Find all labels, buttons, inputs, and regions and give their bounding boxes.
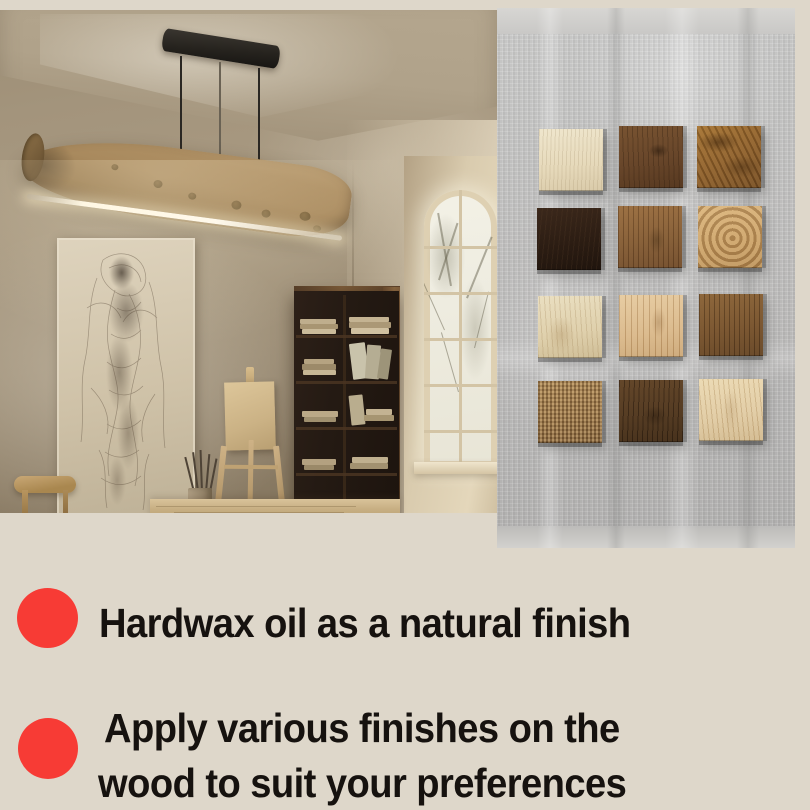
book: [350, 463, 388, 469]
window-mullion-horizontal: [424, 246, 497, 249]
wood-sample-edge: [619, 356, 683, 361]
wood-samples-photo: [497, 8, 795, 548]
window-mullion-vertical: [459, 190, 462, 467]
chair-leg: [22, 490, 28, 513]
wood-sample-edge: [763, 294, 767, 356]
room-scene: [0, 10, 497, 513]
wood-sample-face: [619, 126, 683, 188]
bookshelf-shelf: [296, 381, 397, 384]
wood-sample-edge: [761, 126, 765, 188]
bookshelf: [294, 291, 399, 513]
wood-sample-edge: [538, 442, 602, 447]
bullet-marker-2: [18, 718, 78, 779]
wood-sample-edge: [699, 355, 763, 360]
window-mullion-horizontal: [424, 384, 497, 387]
book: [364, 415, 394, 421]
book: [348, 394, 365, 425]
wood-sample: [619, 126, 683, 188]
caption-line-1: Hardwax oil as a natural finish: [99, 600, 631, 647]
wood-sample-face: [537, 208, 601, 270]
table-grain-line: [156, 506, 356, 507]
table-grain-line: [174, 512, 344, 513]
arched-window: [424, 190, 497, 467]
wood-sample-edge: [619, 187, 683, 192]
book: [351, 328, 389, 334]
wood-sample-edge: [763, 379, 767, 441]
wood-sample-face: [619, 295, 683, 357]
wood-sample-edge: [682, 206, 686, 268]
wood-sample-edge: [602, 296, 606, 358]
wood-sample: [538, 296, 602, 358]
wood-sample-edge: [618, 267, 682, 272]
work-table: [150, 499, 400, 513]
poster-canvas: Hardwax oil as a natural finish Apply va…: [0, 0, 810, 810]
wood-sample-face: [619, 380, 683, 442]
bookshelf-shelf: [296, 427, 397, 430]
book: [303, 370, 336, 375]
window-sill: [414, 462, 497, 474]
wood-sample-edge: [602, 381, 606, 443]
caption-line-3: wood to suit your preferences: [98, 760, 626, 807]
bookshelf-divider: [343, 295, 346, 513]
wood-sample: [699, 379, 763, 441]
wood-sample-edge: [697, 187, 761, 192]
wood-sample: [699, 294, 763, 356]
wood-sample-edge: [539, 190, 603, 195]
wood-sample-face: [699, 379, 763, 441]
wood-sample: [619, 380, 683, 442]
wood-sample-edge: [683, 295, 687, 357]
wood-sample: [618, 206, 682, 268]
charcoal-figure-artwork: [57, 238, 195, 513]
charcoal-scribble-icon: [57, 238, 195, 513]
fabric-fold: [665, 8, 699, 548]
chair-leg: [63, 490, 68, 513]
wood-sample-face: [539, 129, 603, 191]
wood-sample: [619, 295, 683, 357]
window-mullion-horizontal: [424, 338, 497, 341]
wood-sample-edge: [619, 441, 683, 446]
wood-sample: [538, 381, 602, 443]
book: [302, 329, 336, 334]
wood-sample-face: [697, 126, 761, 188]
fabric-fold-shadow: [737, 8, 759, 548]
lamp-cord: [258, 68, 260, 166]
bullet-marker-1: [17, 588, 78, 648]
easel-crossbar: [224, 465, 278, 469]
window-mullion-horizontal: [424, 292, 497, 295]
window-mullion-horizontal: [424, 430, 497, 433]
wood-sample-edge: [699, 440, 763, 445]
wood-sample: [539, 129, 603, 191]
wood-sample: [537, 208, 601, 270]
bookshelf-shelf: [296, 335, 397, 338]
wood-sample-edge: [683, 126, 687, 188]
lamp-cord: [219, 62, 221, 162]
wood-sample-face: [698, 206, 762, 268]
wood-sample-edge: [601, 208, 605, 270]
bookshelf-shelf: [296, 473, 397, 476]
interior-studio-photo: [0, 10, 497, 513]
wood-sample-edge: [698, 267, 762, 272]
wood-sample: [698, 206, 762, 268]
caption-line-2: Apply various finishes on the: [104, 705, 620, 752]
wood-sample-edge: [683, 380, 687, 442]
wood-sample-face: [618, 206, 682, 268]
wood-sample-edge: [537, 269, 601, 274]
wood-sample-face: [538, 296, 602, 358]
wood-sample-edge: [762, 206, 766, 268]
wood-sample-face: [699, 294, 763, 356]
lamp-cord: [180, 56, 182, 152]
book: [304, 465, 334, 470]
wood-sample: [697, 126, 761, 188]
wood-sample-face: [538, 381, 602, 443]
fabric-fold: [537, 8, 563, 548]
wood-sample-edge: [603, 129, 607, 191]
book: [304, 417, 336, 422]
wood-sample-edge: [538, 357, 602, 362]
fabric-fold-shadow: [607, 8, 625, 548]
